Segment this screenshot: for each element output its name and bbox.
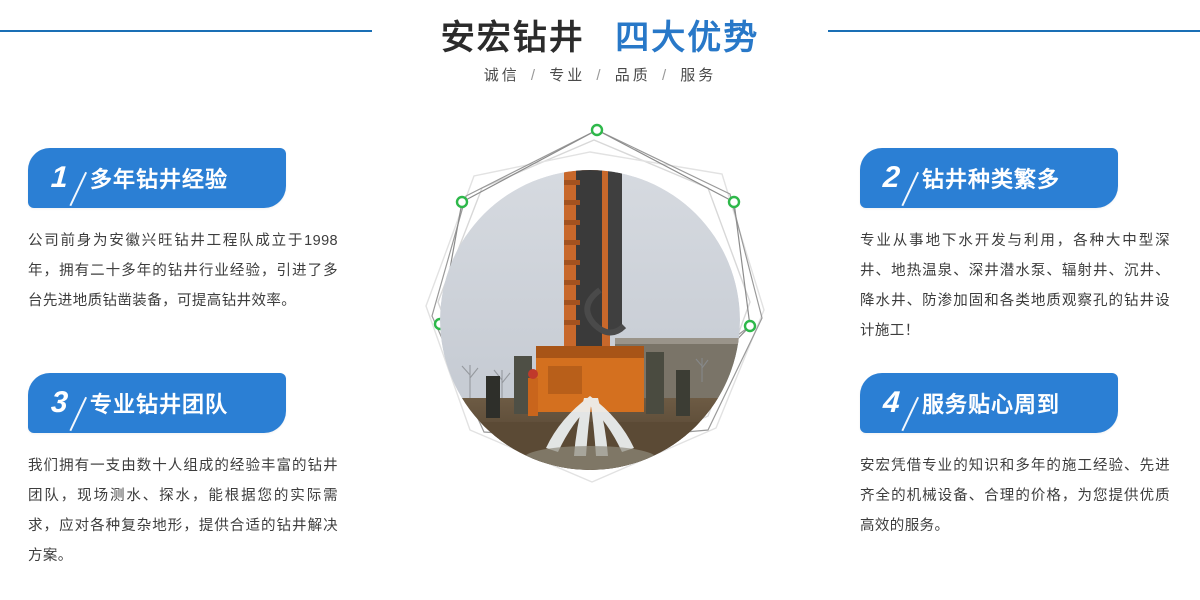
feature-body-3: 我们拥有一支由数十人组成的经验丰富的钻井团队，现场测水、探水，能根据您的实际需求… bbox=[28, 451, 338, 571]
feature-title-2: 钻井种类繁多 bbox=[922, 162, 1060, 194]
subtitle-separator: / bbox=[531, 67, 538, 84]
drilling-rig-photo bbox=[440, 170, 740, 470]
feature-number-1: 1 bbox=[27, 161, 91, 195]
feature-title-3: 专业钻井团队 bbox=[90, 387, 228, 419]
subtitle-separator: / bbox=[662, 67, 669, 84]
feature-number-3: 3 bbox=[27, 386, 91, 420]
feature-title-4: 服务贴心周到 bbox=[922, 387, 1060, 419]
feature-card-4-header: 4 服务贴心周到 bbox=[860, 373, 1118, 433]
feature-body-4: 安宏凭借专业的知识和多年的施工经验、先进齐全的机械设备、合理的价格，为您提供优质… bbox=[860, 451, 1170, 541]
subtitle-item-3: 品质 bbox=[615, 67, 651, 84]
feature-card-4[interactable]: 4 服务贴心周到 安宏凭借专业的知识和多年的施工经验、先进齐全的机械设备、合理的… bbox=[860, 373, 1190, 541]
title-accent: 四大优势 bbox=[615, 19, 759, 57]
center-graphic bbox=[378, 110, 822, 590]
page-title: 安宏钻井 四大优势 bbox=[0, 10, 1200, 59]
feature-number-4: 4 bbox=[859, 386, 923, 420]
subtitle-item-1: 诚信 bbox=[484, 67, 520, 84]
feature-card-2[interactable]: 2 钻井种类繁多 专业从事地下水开发与利用，各种大中型深井、地热温泉、深井潜水泵… bbox=[860, 148, 1190, 346]
subtitle-separator: / bbox=[596, 67, 603, 84]
feature-body-1: 公司前身为安徽兴旺钻井工程队成立于1998年，拥有二十多年的钻井行业经验，引进了… bbox=[28, 226, 338, 316]
feature-card-1[interactable]: 1 多年钻井经验 公司前身为安徽兴旺钻井工程队成立于1998年，拥有二十多年的钻… bbox=[28, 148, 358, 316]
page-subtitle: 诚信 / 专业 / 品质 / 服务 bbox=[0, 64, 1200, 85]
feature-body-2: 专业从事地下水开发与利用，各种大中型深井、地热温泉、深井潜水泵、辐射井、沉井、降… bbox=[860, 226, 1170, 346]
page-header: 安宏钻井 四大优势 诚信 / 专业 / 品质 / 服务 bbox=[0, 0, 1200, 110]
promo-page: 安宏钻井 四大优势 诚信 / 专业 / 品质 / 服务 1 多年钻井经验 公司前… bbox=[0, 0, 1200, 600]
polygon-node-icon bbox=[745, 321, 755, 331]
feature-card-1-header: 1 多年钻井经验 bbox=[28, 148, 286, 208]
subtitle-item-2: 专业 bbox=[549, 67, 585, 84]
feature-card-3-header: 3 专业钻井团队 bbox=[28, 373, 286, 433]
polygon-node-icon bbox=[592, 125, 602, 135]
feature-number-2: 2 bbox=[859, 161, 923, 195]
subtitle-item-4: 服务 bbox=[680, 67, 716, 84]
title-main: 安宏钻井 bbox=[441, 19, 585, 57]
feature-card-3[interactable]: 3 专业钻井团队 我们拥有一支由数十人组成的经验丰富的钻井团队，现场测水、探水，… bbox=[28, 373, 358, 571]
feature-title-1: 多年钻井经验 bbox=[90, 162, 228, 194]
drilling-rig-illustration bbox=[440, 170, 740, 470]
feature-card-2-header: 2 钻井种类繁多 bbox=[860, 148, 1118, 208]
